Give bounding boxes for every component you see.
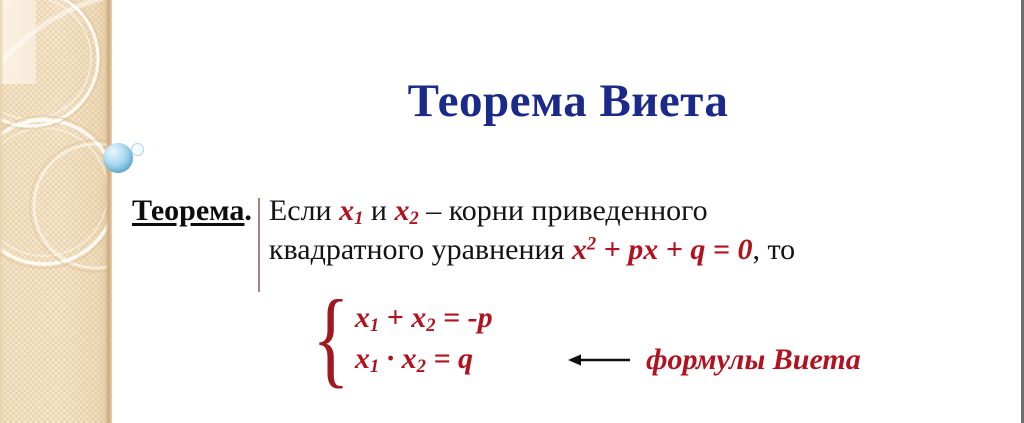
eq2-rhs: = q (426, 342, 473, 375)
line1-prefix: Если (269, 194, 339, 227)
equation-list: x1 + x2 = -p x1 · x2 = q (355, 300, 493, 380)
line1-var1-base: x (339, 194, 354, 227)
decorative-sidebar (0, 0, 112, 423)
line1-suffix: – корни приведенного (419, 194, 708, 227)
theorem-label-word: Теорема (132, 194, 244, 227)
line1-var2-base: x (394, 194, 409, 227)
theorem-line-1: Если x1 и x2 – корни приведенного (269, 196, 1012, 229)
theorem-label: Теорема. (132, 196, 254, 227)
equation-sum: x1 + x2 = -p (355, 300, 493, 338)
eq2-sub1: 1 (370, 356, 379, 377)
vertical-divider (258, 198, 260, 292)
bubble-large-icon (103, 143, 133, 173)
sidebar-right-edge (105, 0, 112, 423)
slide: Теорема Виета Теорема. Если x1 и x2 – ко… (0, 0, 1024, 423)
sidebar-arcs-decoration (0, 0, 112, 423)
line1-var2: x2 (394, 194, 418, 227)
left-arrow-icon (568, 351, 630, 369)
line1-var2-sub: 2 (409, 208, 418, 229)
eq2-operator: · (379, 342, 402, 375)
annotation: формулы Виета (568, 343, 861, 377)
eq1-operator: + (379, 301, 411, 334)
line2-equation-rest: + px + q = 0 (596, 233, 752, 266)
eq1-lhs1: x (355, 301, 370, 334)
theorem-row: Теорема. Если x1 и x2 – корни приведенно… (132, 196, 1012, 292)
annotation-caption: формулы Виета (646, 343, 861, 377)
theorem-statement: Если x1 и x2 – корни приведенного квадра… (269, 196, 1012, 272)
eq1-sub1: 1 (370, 315, 379, 336)
theorem-block: Теорема. Если x1 и x2 – корни приведенно… (132, 196, 1012, 292)
line2-equation-base: x (572, 233, 587, 266)
theorem-line-2: квадратного уравнения x2 + px + q = 0, т… (269, 235, 1012, 266)
eq2-sub2: 2 (417, 356, 426, 377)
eq1-rhs: = -p (436, 301, 493, 334)
line1-var1: x1 (339, 194, 363, 227)
line1-conjunction: и (363, 194, 394, 227)
equation-system: { x1 + x2 = -p x1 · x2 = q (305, 295, 493, 384)
line2-equation: x2 + px + q = 0 (572, 233, 753, 266)
eq2-lhs2: x (402, 342, 417, 375)
equation-product: x1 · x2 = q (355, 341, 493, 379)
sidebar-left-edge (0, 0, 4, 423)
page-title: Теорема Виета (112, 74, 1024, 128)
eq2-lhs1: x (355, 342, 370, 375)
eq1-sub2: 2 (426, 315, 435, 336)
curly-brace-icon: { (312, 295, 349, 384)
theorem-label-period: . (244, 194, 252, 227)
eq1-lhs2: x (411, 301, 426, 334)
line2-equation-exponent: 2 (587, 233, 596, 254)
line2-suffix: , то (752, 233, 795, 266)
bubble-small-icon (131, 143, 144, 156)
line2-prefix: квадратного уравнения (269, 233, 572, 266)
line1-var1-sub: 1 (354, 208, 363, 229)
